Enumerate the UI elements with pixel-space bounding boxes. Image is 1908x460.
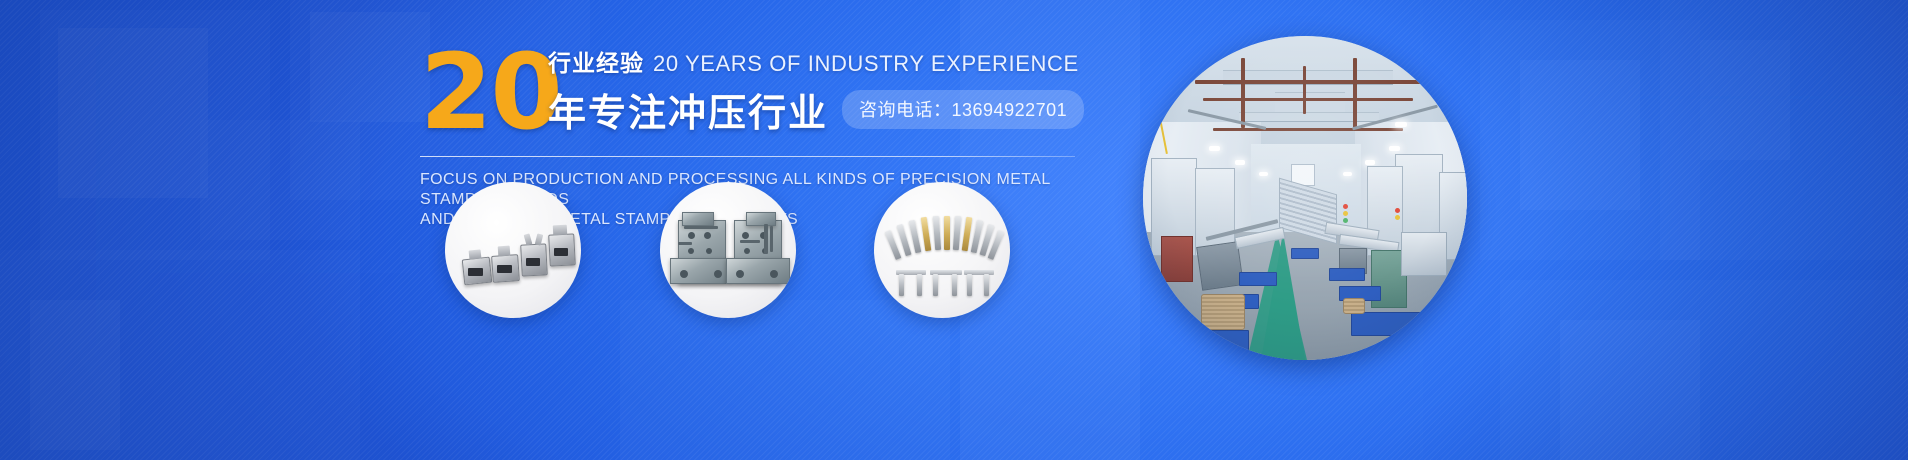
phone-badge[interactable]: 咨询电话：13694922701	[842, 90, 1084, 129]
headline-line-2: 年专注冲压行业 咨询电话：13694922701	[548, 82, 1084, 137]
product-circle-stamping-mold[interactable]	[660, 182, 796, 318]
years-number: 20	[420, 46, 561, 138]
industry-experience-en-label: 20 YEARS OF INDUSTRY EXPERIENCE	[653, 51, 1079, 77]
industry-experience-cn-label: 行业经验	[548, 44, 644, 78]
product-circle-usb-connectors[interactable]	[445, 182, 581, 318]
product-circle-metal-terminals[interactable]	[874, 182, 1010, 318]
headline-right-column: 行业经验 20 YEARS OF INDUSTRY EXPERIENCE 年专注…	[548, 44, 1084, 137]
stamping-focus-cn-headline: 年专注冲压行业	[548, 82, 828, 137]
factory-photo-circle[interactable]	[1143, 36, 1467, 360]
usb-connectors-photo	[445, 182, 581, 318]
stamping-mold-photo	[660, 182, 796, 318]
headline-row: 20 行业经验 20 YEARS OF INDUSTRY EXPERIENCE …	[420, 44, 1100, 140]
headline-line-1: 行业经验 20 YEARS OF INDUSTRY EXPERIENCE	[548, 44, 1084, 76]
headline-divider	[420, 156, 1075, 157]
metal-terminals-photo	[874, 182, 1010, 318]
factory-photo-shading	[1143, 36, 1467, 360]
company-hero-banner: 20 行业经验 20 YEARS OF INDUSTRY EXPERIENCE …	[0, 0, 1908, 460]
